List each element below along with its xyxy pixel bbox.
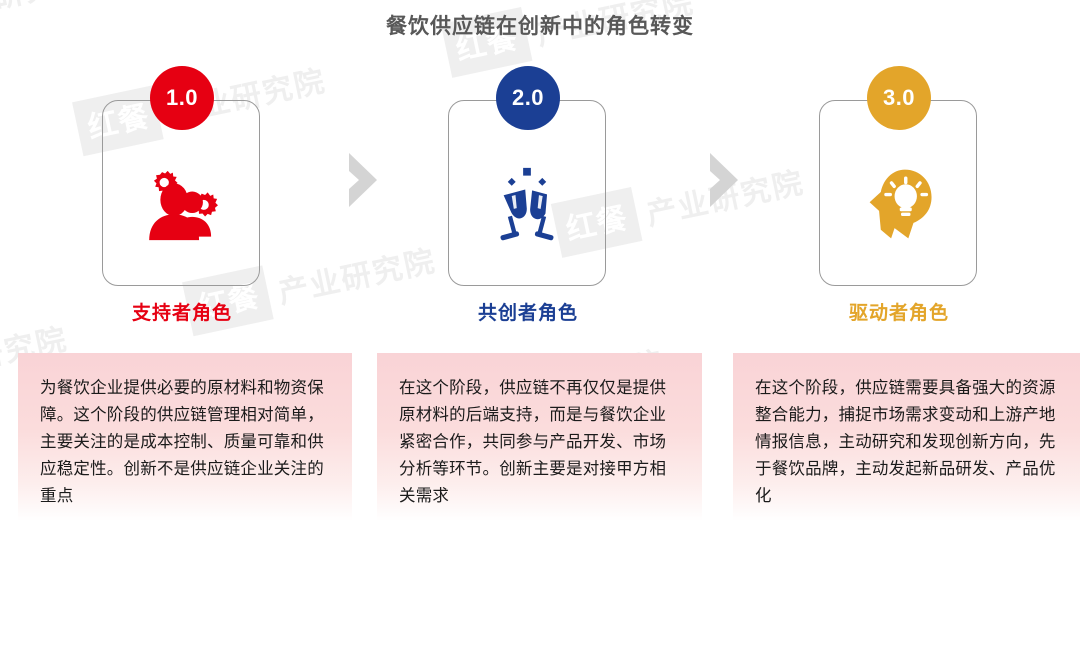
stage-row: 1.0 xyxy=(0,66,1080,316)
stage-label-2: 共创者角色 xyxy=(421,298,635,325)
description-box-2: 在这个阶段，供应链不再仅仅是提供原材料的后端支持，而是与餐饮企业紧密合作，共同参… xyxy=(377,353,702,521)
description-box-3: 在这个阶段，供应链需要具备强大的资源整合能力，捕捉市场需求变动和上游产地情报信息… xyxy=(733,353,1080,521)
description-box-1: 为餐饮企业提供必要的原材料和物资保障。这个阶段的供应链管理相对简单，主要关注的是… xyxy=(18,353,352,521)
description-text-1: 为餐饮企业提供必要的原材料和物资保障。这个阶段的供应链管理相对简单，主要关注的是… xyxy=(40,375,332,510)
flow-arrow-2-to-3 xyxy=(706,151,752,209)
head-lightbulb-icon xyxy=(855,161,941,247)
stage-label-3: 驱动者角色 xyxy=(792,298,1006,325)
stage-version-label: 2.0 xyxy=(512,85,544,111)
stage-version-label: 3.0 xyxy=(883,85,915,111)
flow-arrow-1-to-2 xyxy=(345,151,391,209)
description-text-2: 在这个阶段，供应链不再仅仅是提供原材料的后端支持，而是与餐饮企业紧密合作，共同参… xyxy=(399,375,682,510)
stage-label-1: 支持者角色 xyxy=(75,298,289,325)
stage-version-badge-1: 1.0 xyxy=(150,66,214,130)
stage-version-badge-3: 3.0 xyxy=(867,66,931,130)
cheers-glasses-icon xyxy=(484,161,570,247)
stage-version-badge-2: 2.0 xyxy=(496,66,560,130)
page-title: 餐饮供应链在创新中的角色转变 xyxy=(0,10,1080,40)
stage-version-label: 1.0 xyxy=(166,85,198,111)
people-gears-icon xyxy=(138,161,224,247)
description-text-3: 在这个阶段，供应链需要具备强大的资源整合能力，捕捉市场需求变动和上游产地情报信息… xyxy=(755,375,1060,510)
